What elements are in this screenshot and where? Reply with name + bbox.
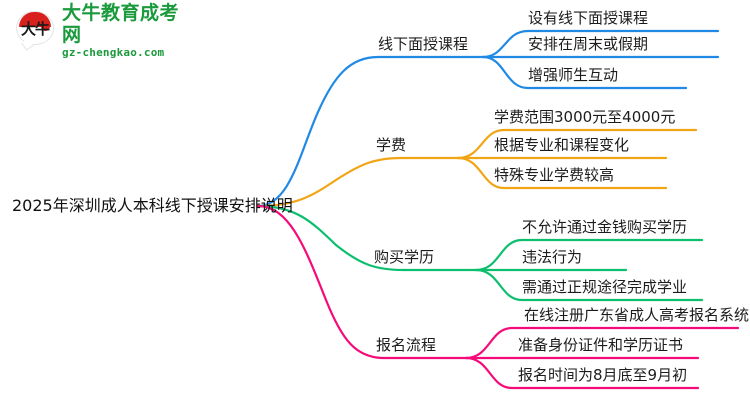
site-logo: 大牛 大牛教育成考网 gz-chengkao.com — [14, 6, 189, 54]
leaf-label-4-1[interactable]: 在线注册广东省成人高考报名系统 — [524, 306, 749, 325]
wire-root-branch-1 — [258, 57, 378, 206]
branch-label-registration[interactable]: 报名流程 — [376, 336, 436, 355]
logo-text-block: 大牛教育成考网 gz-chengkao.com — [62, 2, 189, 59]
wire-root-branch-4 — [258, 206, 384, 358]
leaf-label-1-1[interactable]: 设有线下面授课程 — [528, 9, 648, 28]
logo-domain: gz-chengkao.com — [62, 46, 189, 59]
logo-mark-text: 大牛 — [18, 21, 52, 38]
leaf-label-3-3[interactable]: 需通过正规途径完成学业 — [522, 278, 687, 297]
branch-label-buy-diploma[interactable]: 购买学历 — [374, 248, 434, 267]
leaf-label-4-2[interactable]: 准备身份证件和学历证书 — [518, 336, 683, 355]
leaf-label-3-1[interactable]: 不允许通过金钱购买学历 — [522, 218, 687, 237]
mindmap-page: 大牛 大牛教育成考网 gz-chengkao.com — [0, 0, 750, 410]
root-node-label[interactable]: 2025年深圳成人本科线下授课安排说明 — [12, 196, 293, 216]
logo-title: 大牛教育成考网 — [62, 2, 189, 46]
branch-label-offline-courses[interactable]: 线下面授课程 — [378, 35, 468, 54]
leaf-label-3-2[interactable]: 违法行为 — [522, 248, 582, 267]
leaf-label-2-2[interactable]: 根据专业和课程变化 — [494, 136, 629, 155]
leaf-label-1-3[interactable]: 增强师生互动 — [528, 66, 618, 85]
daniu-bubble-icon: 大牛 — [14, 9, 56, 51]
leaf-label-2-1[interactable]: 学费范围3000元至4000元 — [494, 108, 675, 127]
leaf-label-2-3[interactable]: 特殊专业学费较高 — [494, 166, 614, 185]
wire-branch-3-child-1 — [476, 240, 702, 270]
leaf-label-1-2[interactable]: 安排在周末或假期 — [528, 35, 648, 54]
leaf-label-4-3[interactable]: 报名时间为8月底至9月初 — [518, 366, 687, 385]
branch-label-tuition[interactable]: 学费 — [376, 136, 406, 155]
